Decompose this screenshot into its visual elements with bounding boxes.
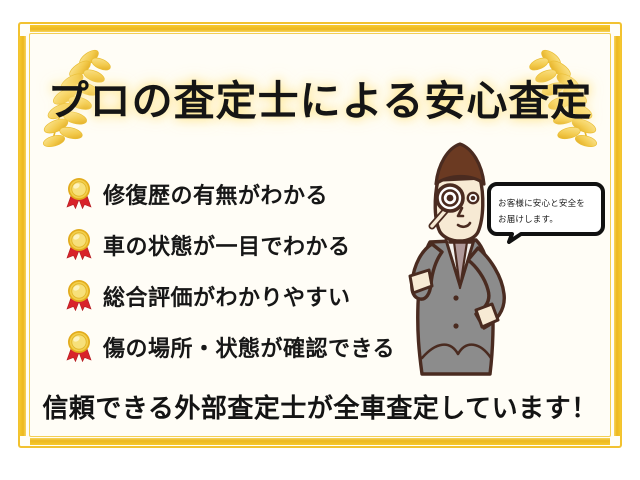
frame-bar-left	[19, 36, 26, 436]
list-item-label: 修復歴の有無がわかる	[103, 178, 328, 210]
frame-bar-top	[30, 25, 610, 32]
speech-bubble-text: お客様に安心と安全を お届けします。	[498, 196, 598, 228]
medal-icon	[64, 279, 94, 311]
banner-canvas: プロの査定士による安心査定 修復歴の有無がわかる	[0, 0, 640, 480]
list-item: 総合評価がわかりやすい	[64, 270, 414, 321]
tagline: 信頼できる外部査定士が全車査定しています！	[30, 388, 610, 425]
list-item: 傷の場所・状態が確認できる	[64, 321, 414, 372]
title-zone: プロの査定士による安心査定	[26, 44, 614, 150]
frame-bar-right	[614, 36, 621, 436]
list-item: 修復歴の有無がわかる	[64, 168, 414, 219]
speech-bubble-line-2: お届けします。	[498, 212, 598, 228]
medal-icon	[64, 228, 94, 260]
speech-bubble-line-1: お客様に安心と安全を	[498, 196, 598, 212]
list-item: 車の状態が一目でわかる	[64, 219, 414, 270]
frame-bar-bottom	[30, 438, 610, 445]
appraiser-illustration	[392, 136, 542, 388]
feature-list: 修復歴の有無がわかる 車の状態が一目でわかる 総合評価がわか	[64, 168, 414, 372]
list-item-label: 車の状態が一目でわかる	[103, 229, 351, 261]
medal-icon	[64, 177, 94, 209]
list-item-label: 総合評価がわかりやすい	[103, 280, 351, 312]
medal-icon	[64, 330, 94, 362]
list-item-label: 傷の場所・状態が確認できる	[103, 331, 395, 363]
page-title: プロの査定士による安心査定	[26, 44, 614, 150]
